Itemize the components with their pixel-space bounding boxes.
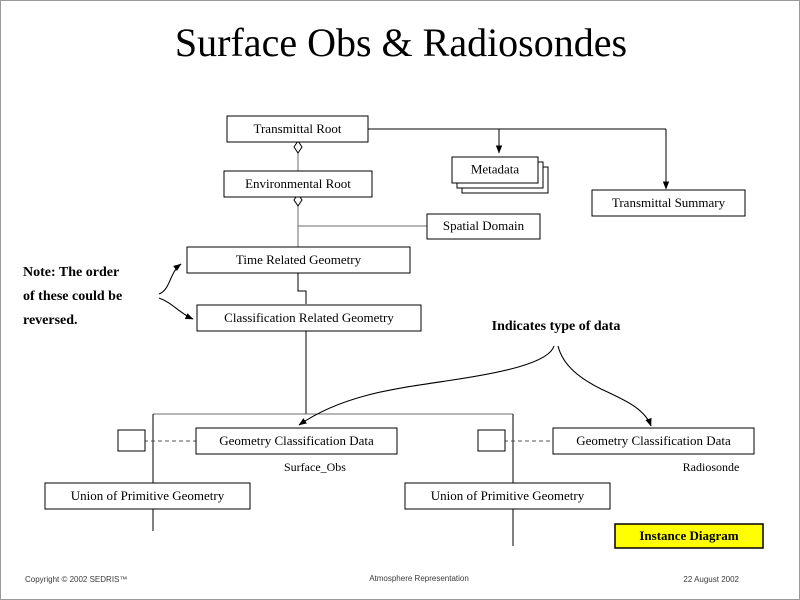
type-label-surface-obs: Surface_Obs [284, 460, 346, 474]
node-transmittal-root-label: Transmittal Root [253, 121, 341, 136]
node-union-primitive-geometry-left[interactable]: Union of Primitive Geometry [45, 483, 250, 509]
node-transmittal-summary-label: Transmittal Summary [612, 195, 726, 210]
indicates-type-of-data-label: Indicates type of data [492, 319, 621, 334]
note-line-1: Note: The order [23, 265, 119, 280]
node-spatial-domain-label: Spatial Domain [443, 218, 525, 233]
footer-date: 22 August 2002 [683, 575, 739, 584]
node-transmittal-root[interactable]: Transmittal Root [227, 116, 368, 142]
node-time-related-geometry[interactable]: Time Related Geometry [187, 247, 410, 273]
node-geometry-classification-data-left[interactable]: Geometry Classification Data [196, 428, 397, 454]
node-time-related-geometry-label: Time Related Geometry [236, 252, 362, 267]
node-environmental-root[interactable]: Environmental Root [224, 171, 372, 197]
node-classification-related-geometry-label: Classification Related Geometry [224, 310, 394, 325]
node-geometry-classification-data-right-label: Geometry Classification Data [576, 433, 731, 448]
note-curve-to-classification [159, 298, 193, 319]
type-label-radiosonde: Radiosonde [683, 460, 740, 474]
slide-canvas: Surface Obs & Radiosondes [0, 0, 800, 600]
node-geometry-classification-data-left-label: Geometry Classification Data [219, 433, 374, 448]
indicates-curve-left [299, 346, 554, 425]
node-union-primitive-geometry-right-label: Union of Primitive Geometry [431, 488, 585, 503]
note-curve-to-time [159, 264, 181, 294]
footer-copyright: Copyright © 2002 SEDRIS™ [25, 575, 127, 584]
node-union-primitive-geometry-right[interactable]: Union of Primitive Geometry [405, 483, 610, 509]
instance-diagram: Transmittal Root Metadata Transmittal Su… [1, 1, 800, 600]
instance-diagram-badge-label: Instance Diagram [639, 528, 738, 543]
node-geometry-classification-data-right[interactable]: Geometry Classification Data [553, 428, 754, 454]
node-environmental-root-label: Environmental Root [245, 176, 351, 191]
node-spatial-domain[interactable]: Spatial Domain [427, 214, 540, 239]
node-metadata-label: Metadata [471, 161, 520, 176]
node-union-primitive-geometry-left-label: Union of Primitive Geometry [71, 488, 225, 503]
indicates-curve-right [558, 346, 651, 426]
role-box-left[interactable] [118, 430, 145, 451]
node-metadata[interactable]: Metadata [452, 157, 548, 193]
aggregation-diamond-1 [294, 141, 302, 153]
edge-time-to-classification [298, 272, 306, 304]
note-line-3: reversed. [23, 313, 78, 328]
role-box-right[interactable] [478, 430, 505, 451]
node-classification-related-geometry[interactable]: Classification Related Geometry [197, 305, 421, 331]
footer-center-label: Atmosphere Representation [369, 574, 469, 583]
note-line-2: of these could be [23, 289, 122, 304]
node-transmittal-summary[interactable]: Transmittal Summary [592, 190, 745, 216]
instance-diagram-badge[interactable]: Instance Diagram [615, 524, 763, 548]
